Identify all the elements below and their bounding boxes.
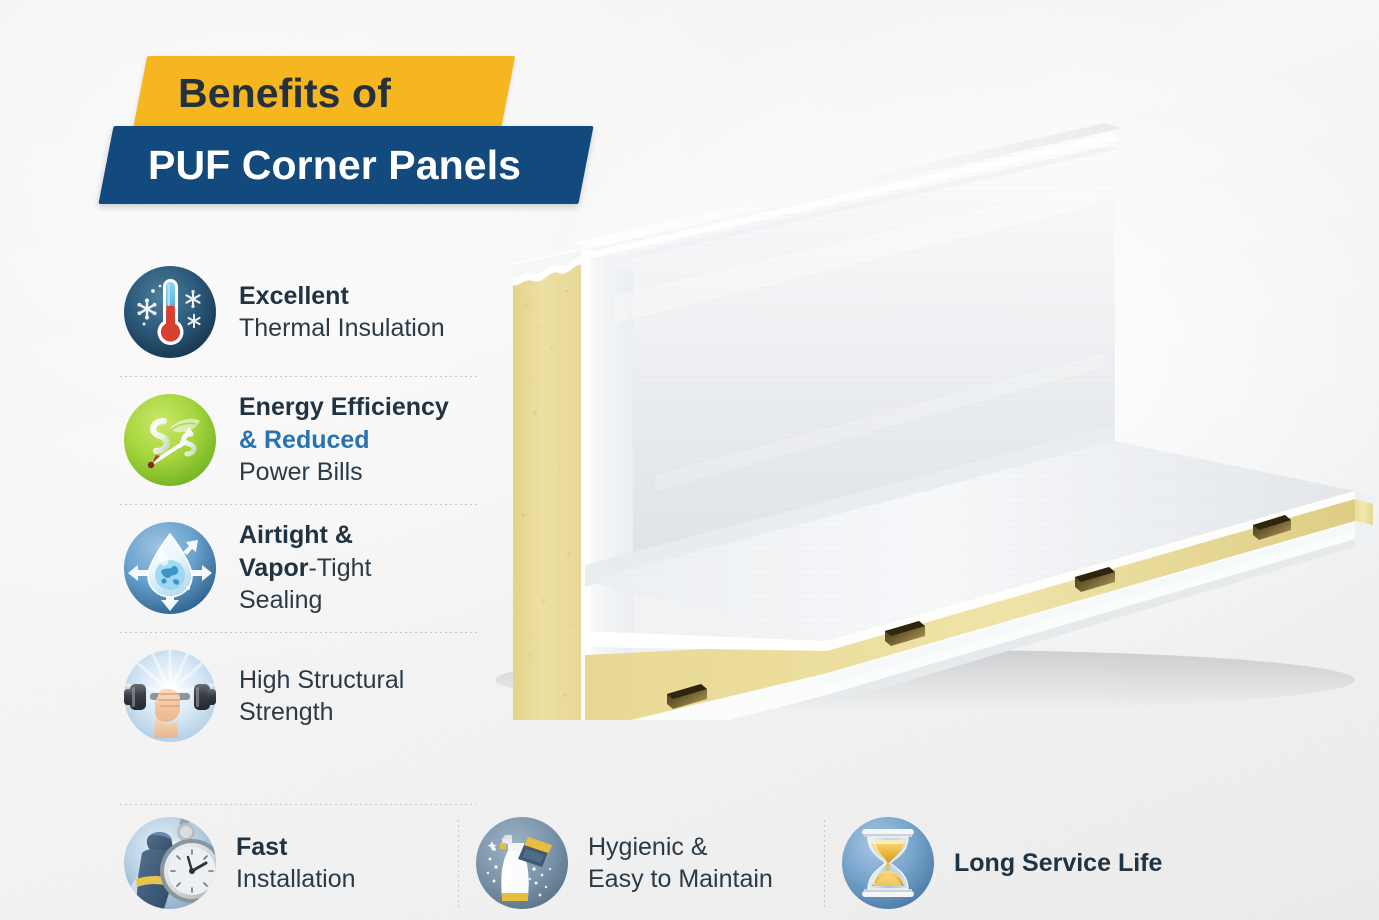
benefit-item-airtight-sealing: Airtight & Vapor-Tight Sealing: [120, 504, 492, 632]
panel-skin-line-vertical: [581, 249, 591, 720]
benefit-subtitle: Installation: [236, 865, 356, 893]
benefit-item-fast-installation: Fast Installation: [120, 806, 472, 920]
benefit-item-long-service-life: Long Service Life: [838, 806, 1162, 920]
puf-core-vertical: [513, 247, 585, 720]
benefit-subtitle: Easy to Maintain: [588, 865, 773, 893]
thermometer-snowflake-icon: [120, 262, 220, 362]
benefit-subtitle-highlight: & Reduced: [239, 426, 370, 454]
benefit-item-structural-strength: High Structural Strength: [120, 632, 492, 760]
benefit-subtitle-bold: Vapor: [239, 554, 308, 582]
benefit-title: Energy Efficiency: [239, 393, 449, 421]
title-banner: Benefits of PUF Corner Panels: [96, 56, 616, 206]
benefit-subtitle-suffix: -Tight: [308, 554, 371, 582]
energy-savings-icon: [120, 390, 220, 490]
hourglass-icon: [838, 813, 938, 913]
benefit-item-hygienic: Hygienic & Easy to Maintain: [472, 806, 838, 920]
stopwatch-worker-icon: [120, 813, 220, 913]
benefit-title: Fast: [236, 833, 287, 861]
benefit-item-thermal-insulation: Excellent Thermal Insulation: [120, 248, 492, 376]
benefit-subtitle: Sealing: [239, 586, 322, 614]
benefit-subtitle: Strength: [239, 698, 334, 726]
benefit-subtitle: Power Bills: [239, 458, 363, 486]
benefit-title: Hygienic &: [588, 833, 708, 861]
spray-bottle-cleaning-icon: [472, 813, 572, 913]
benefits-list: Excellent Thermal Insulation: [120, 248, 492, 760]
dumbbell-strength-icon: [120, 646, 220, 746]
benefit-label-thermal-insulation: Excellent Thermal Insulation: [239, 280, 445, 345]
benefit-title: Excellent: [239, 282, 349, 310]
benefit-subtitle: Thermal Insulation: [239, 314, 445, 342]
benefit-item-energy-efficiency: Energy Efficiency & Reduced Power Bills: [120, 376, 492, 504]
page-title-line-1: Benefits of: [140, 70, 508, 117]
benefit-label-fast-installation: Fast Installation: [236, 831, 356, 896]
benefit-label-airtight-sealing: Airtight & Vapor-Tight Sealing: [239, 519, 371, 617]
water-droplet-seal-icon: [120, 518, 220, 618]
title-band-navy: PUF Corner Panels: [106, 126, 586, 204]
bottom-benefits-row: Fast Installation: [120, 806, 1300, 920]
benefit-title: Airtight &: [239, 521, 353, 549]
benefit-label-energy-efficiency: Energy Efficiency & Reduced Power Bills: [239, 391, 449, 489]
benefit-label-long-service-life: Long Service Life: [954, 847, 1162, 880]
page-title-line-2: PUF Corner Panels: [106, 142, 586, 189]
benefit-label-hygienic: Hygienic & Easy to Maintain: [588, 831, 773, 896]
benefit-label-structural-strength: High Structural Strength: [239, 664, 404, 729]
benefit-title: Long Service Life: [954, 849, 1162, 877]
benefit-title: High Structural: [239, 666, 404, 694]
title-band-yellow: Benefits of: [140, 56, 508, 130]
bottom-row-divider: [120, 804, 476, 805]
